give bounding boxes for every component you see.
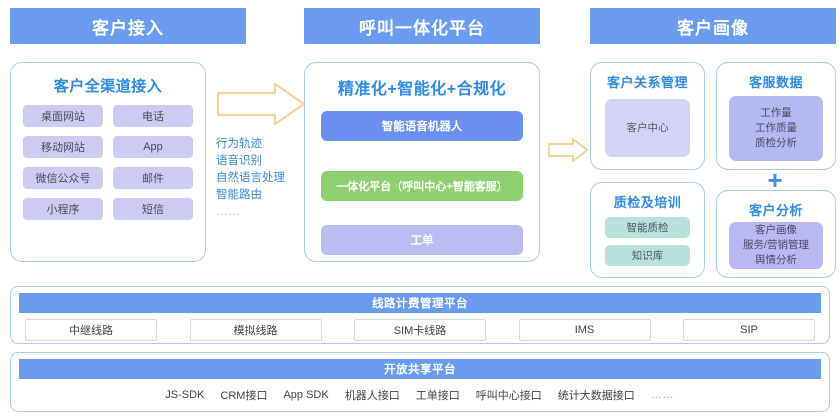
- box-unified-platform[interactable]: 一体化平台（呼叫中心+智能客服）: [321, 171, 523, 201]
- box-knowledge-base[interactable]: 知识库: [605, 245, 690, 266]
- box-analysis-items[interactable]: 客户画像 服务/营销管理 舆情分析: [729, 222, 823, 269]
- header-bar-call-platform: 呼叫一体化平台: [304, 8, 540, 44]
- service-metric-label: 质检分析: [755, 136, 797, 151]
- api-item-row: JS-SDK CRM接口 App SDK 机器人接口 工单接口 呼叫中心接口 统…: [11, 387, 829, 403]
- line-item[interactable]: 中继线路: [25, 319, 157, 341]
- api-item[interactable]: 工单接口: [416, 387, 460, 403]
- panel-line-billing: 线路计费管理平台 中继线路 模拟线路 SIM卡线路 IMS SIP: [10, 286, 830, 344]
- card-title-crm: 客户关系管理: [591, 72, 704, 91]
- api-item[interactable]: CRM接口: [220, 387, 267, 403]
- card-title-integrated: 精准化+智能化+合规化: [305, 75, 539, 99]
- service-metric-label: 工作质量: [755, 121, 797, 136]
- channel-item[interactable]: App: [113, 136, 193, 158]
- channel-item[interactable]: 电话: [113, 105, 193, 127]
- line-item[interactable]: 模拟线路: [190, 319, 322, 341]
- diagram-canvas: 客户接入 呼叫一体化平台 客户画像 客户全渠道接入 桌面网站 电话 移动网站 A…: [0, 0, 840, 420]
- header-bar-customer-profile: 客户画像: [590, 8, 836, 44]
- box-work-order[interactable]: 工单: [321, 225, 523, 255]
- card-crm: 客户关系管理 客户中心: [590, 62, 705, 170]
- header-bar-customer-access: 客户接入: [10, 8, 246, 44]
- card-customer-analysis: 客户分析 客户画像 服务/营销管理 舆情分析: [716, 190, 836, 278]
- box-voice-robot[interactable]: 智能语音机器人: [321, 111, 523, 141]
- box-service-metrics[interactable]: 工作量 工作质量 质检分析: [729, 96, 823, 161]
- box-customer-center[interactable]: 客户中心: [605, 99, 690, 157]
- card-title-quality: 质检及培训: [591, 192, 704, 211]
- card-service-data: 客服数据 工作量 工作质量 质检分析: [716, 62, 836, 170]
- line-item[interactable]: SIP: [683, 319, 815, 341]
- api-item[interactable]: 统计大数据接口: [558, 387, 635, 403]
- api-item[interactable]: JS-SDK: [165, 389, 204, 401]
- card-integrated-platform: 精准化+智能化+合规化 智能语音机器人 一体化平台（呼叫中心+智能客服） 工单: [304, 62, 540, 262]
- feature-label: 自然语言处理: [216, 170, 302, 187]
- analysis-item-label: 舆情分析: [755, 253, 797, 268]
- api-item[interactable]: 机器人接口: [345, 387, 400, 403]
- card-quality-training: 质检及培训 智能质检 知识库: [590, 182, 705, 278]
- card-title-analysis: 客户分析: [717, 200, 835, 219]
- api-item[interactable]: App SDK: [283, 389, 328, 401]
- feature-ellipsis: ……: [216, 204, 302, 221]
- panel-open-sharing: 开放共享平台 JS-SDK CRM接口 App SDK 机器人接口 工单接口 呼…: [10, 352, 830, 412]
- line-item[interactable]: SIM卡线路: [354, 319, 486, 341]
- right-arrow-icon-small: [548, 138, 588, 162]
- feature-label: 语音识别: [216, 153, 302, 170]
- channel-item[interactable]: 微信公众号: [23, 167, 103, 189]
- panel-title-line-billing: 线路计费管理平台: [19, 293, 821, 313]
- card-title-service-data: 客服数据: [717, 72, 835, 91]
- analysis-item-label: 客户画像: [755, 223, 797, 238]
- connector-feature-list: 行为轨迹 语音识别 自然语言处理 智能路由 ……: [216, 136, 302, 221]
- card-omnichannel-access: 客户全渠道接入 桌面网站 电话 移动网站 App 微信公众号 邮件 小程序 短信: [10, 62, 206, 262]
- feature-label: 智能路由: [216, 187, 302, 204]
- right-arrow-icon: [217, 83, 305, 125]
- channel-item[interactable]: 移动网站: [23, 136, 103, 158]
- feature-label: 行为轨迹: [216, 136, 302, 153]
- channel-item[interactable]: 小程序: [23, 198, 103, 220]
- channel-item[interactable]: 短信: [113, 198, 193, 220]
- panel-title-open-sharing: 开放共享平台: [19, 359, 821, 379]
- box-smart-qa[interactable]: 智能质检: [605, 217, 690, 238]
- card-title-omnichannel: 客户全渠道接入: [11, 75, 205, 96]
- plus-icon: +: [760, 168, 790, 192]
- channel-item[interactable]: 桌面网站: [23, 105, 103, 127]
- api-ellipsis: ……: [651, 389, 675, 401]
- line-item[interactable]: IMS: [519, 319, 651, 341]
- api-item[interactable]: 呼叫中心接口: [476, 387, 542, 403]
- service-metric-label: 工作量: [760, 106, 792, 121]
- channel-item[interactable]: 邮件: [113, 167, 193, 189]
- channel-grid: 桌面网站 电话 移动网站 App 微信公众号 邮件 小程序 短信: [23, 105, 193, 220]
- analysis-item-label: 服务/营销管理: [743, 238, 809, 253]
- line-item-row: 中继线路 模拟线路 SIM卡线路 IMS SIP: [25, 319, 815, 341]
